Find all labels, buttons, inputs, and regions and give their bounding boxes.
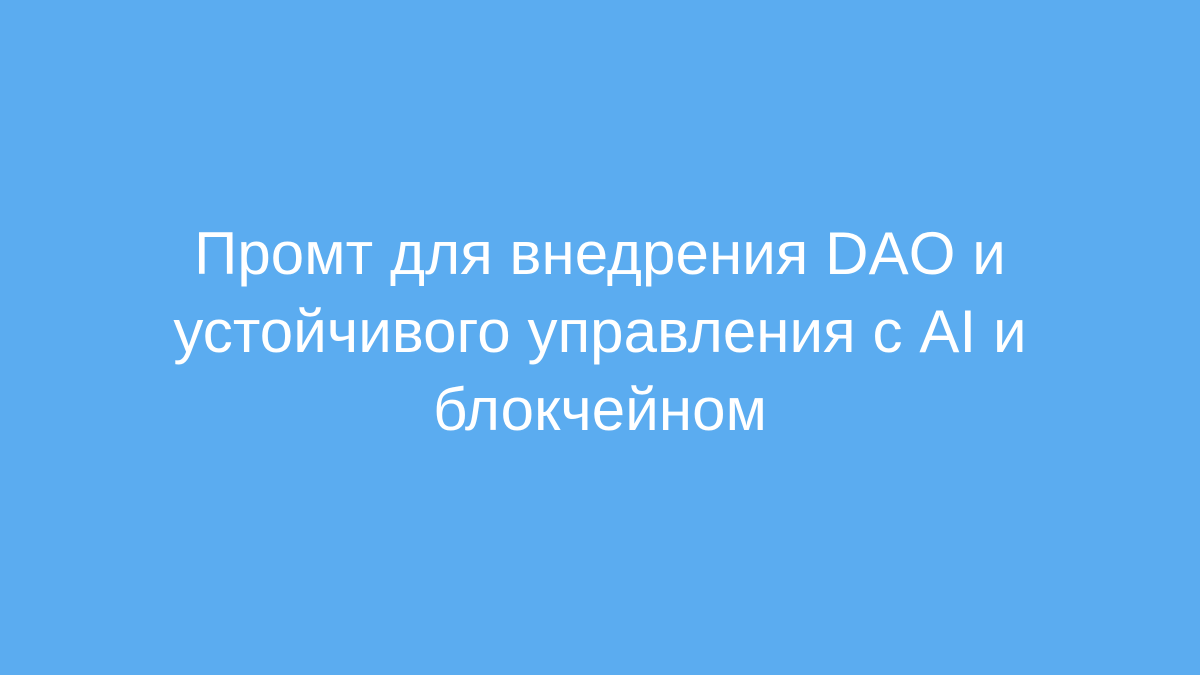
cover-card: Промт для внедрения DAO и устойчивого уп… [0, 0, 1200, 675]
cover-title-block: Промт для внедрения DAO и устойчивого уп… [160, 215, 1040, 449]
page-title: Промт для внедрения DAO и устойчивого уп… [160, 215, 1040, 449]
